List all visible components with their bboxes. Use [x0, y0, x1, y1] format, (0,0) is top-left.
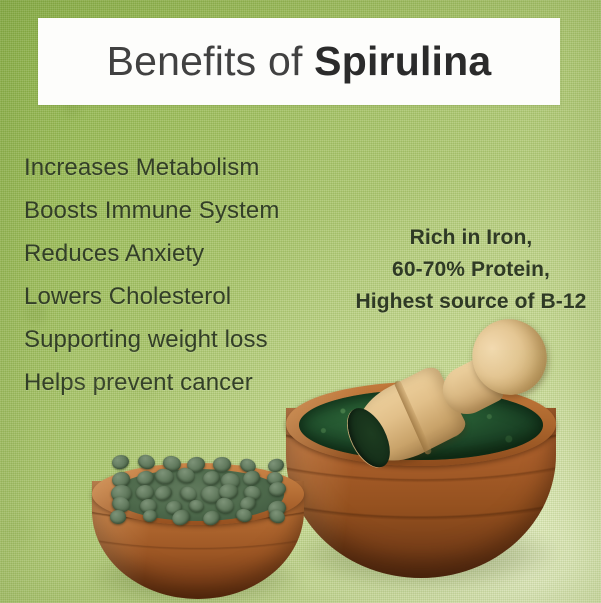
title-prefix: Benefits of — [107, 38, 315, 84]
tablet — [111, 453, 131, 471]
title-highlight: Spirulina — [314, 38, 491, 84]
benefits-list: Increases Metabolism Boosts Immune Syste… — [24, 146, 344, 404]
tablet — [153, 484, 174, 503]
spirulina-powder-photo — [286, 368, 586, 603]
spirulina-tablets-photo — [84, 455, 316, 603]
tablet — [213, 457, 232, 472]
list-item: Lowers Cholesterol — [24, 275, 344, 318]
nutrition-callout: Rich in Iron, 60-70% Protein, Highest so… — [345, 222, 597, 318]
page-title: Benefits of Spirulina — [107, 41, 492, 82]
list-item: Increases Metabolism — [24, 146, 344, 189]
title-banner: Benefits of Spirulina — [38, 18, 560, 105]
spirulina-tablets — [112, 469, 284, 521]
list-item: Boosts Immune System — [24, 189, 344, 232]
tablet — [136, 484, 155, 500]
infographic-poster: Benefits of Spirulina Increases Metaboli… — [0, 0, 601, 603]
tablet — [188, 499, 205, 514]
callout-line: Rich in Iron, — [345, 222, 597, 254]
list-item: Supporting weight loss — [24, 318, 344, 361]
callout-line: 60-70% Protein, — [345, 254, 597, 286]
list-item: Reduces Anxiety — [24, 232, 344, 275]
